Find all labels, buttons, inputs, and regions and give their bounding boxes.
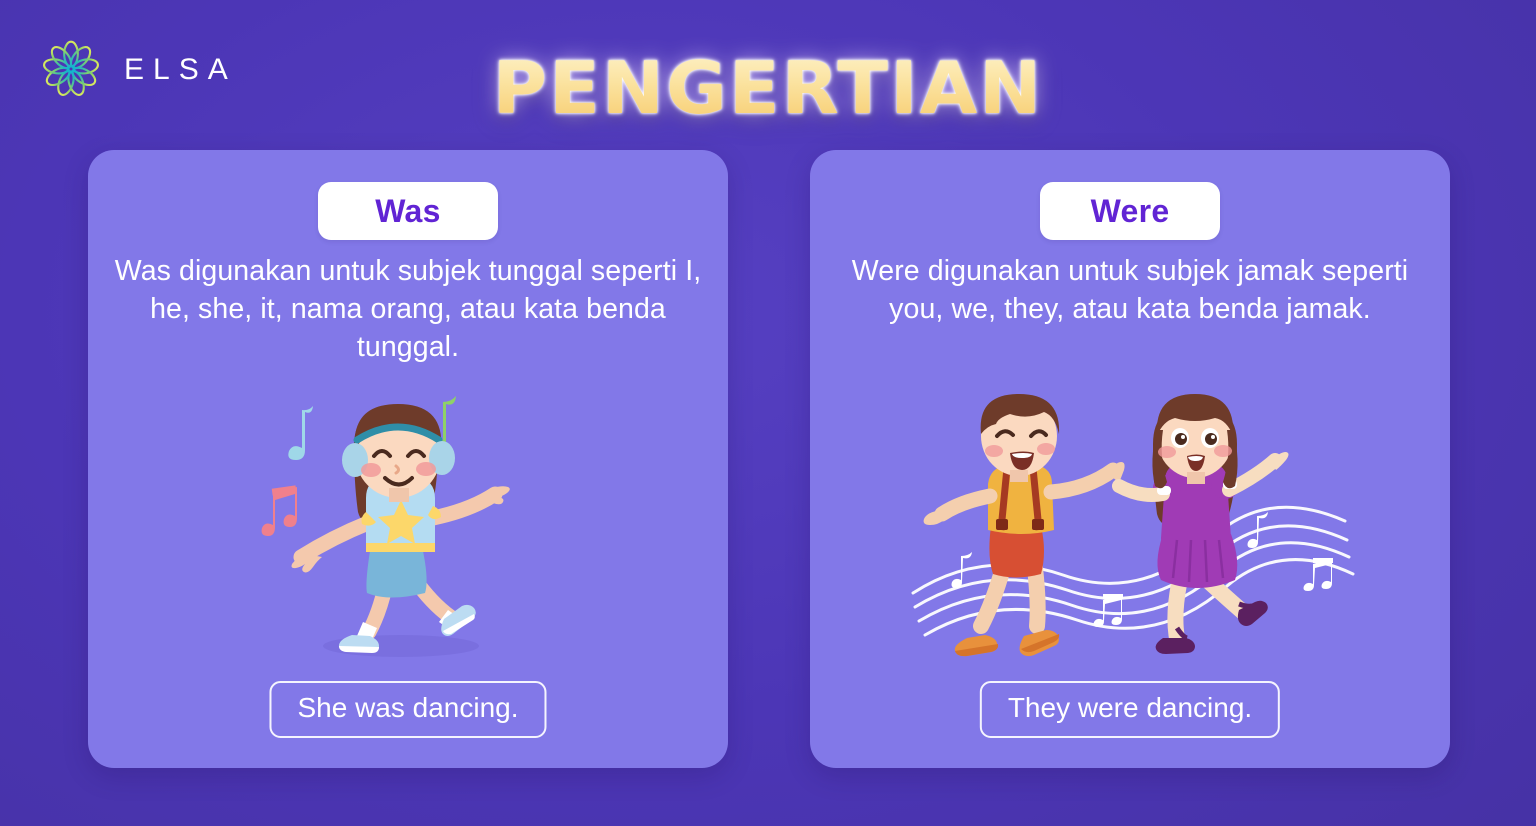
page-title: PENGERTIAN bbox=[0, 52, 1536, 124]
example-were: They were dancing. bbox=[980, 681, 1280, 738]
music-note-pink-icon bbox=[262, 485, 297, 536]
badge-was: Was bbox=[318, 182, 498, 240]
description-was: Was digunakan untuk subjek tunggal seper… bbox=[114, 252, 702, 367]
boy-figure bbox=[924, 394, 1125, 656]
description-were: Were digunakan untuk subjek jamak sepert… bbox=[836, 252, 1424, 328]
girl-dancing-with-headphones-illustration bbox=[88, 378, 728, 678]
slide-canvas: ELSA PENGERTIAN Was Was digunakan untuk … bbox=[0, 0, 1536, 826]
badge-were: Were bbox=[1040, 182, 1220, 240]
music-note-blue-icon bbox=[288, 406, 313, 460]
card-was: Was Was digunakan untuk subjek tunggal s… bbox=[88, 150, 728, 768]
girl-figure bbox=[1119, 394, 1289, 654]
card-were: Were Were digunakan untuk subjek jamak s… bbox=[810, 150, 1450, 768]
music-note-white-right-icon bbox=[1304, 558, 1334, 591]
boy-and-girl-dancing-together-illustration bbox=[810, 378, 1450, 678]
example-was: She was dancing. bbox=[269, 681, 546, 738]
